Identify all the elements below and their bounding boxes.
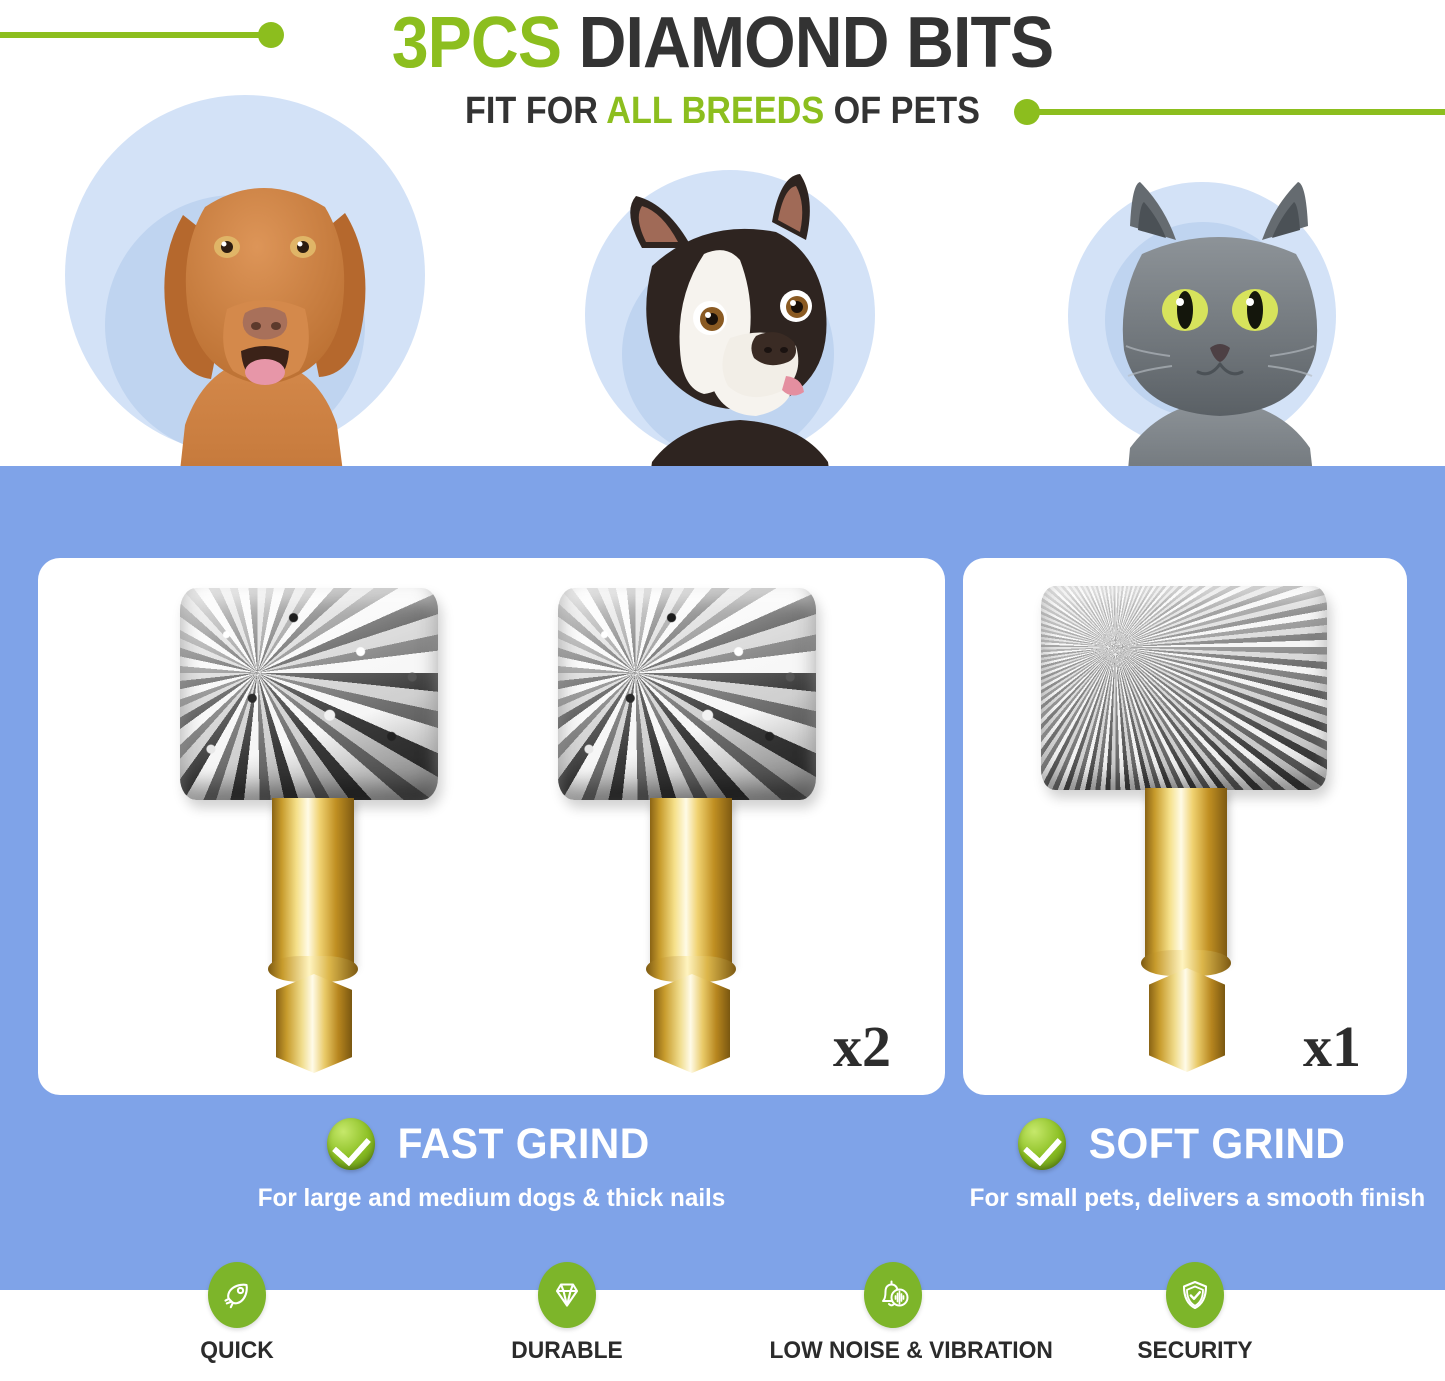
feature-heading: SOFT GRIND [963,1118,1407,1170]
diamond-icon [550,1278,584,1312]
subtitle-post: OF PETS [824,90,980,132]
header-line-right [1034,109,1445,115]
bit-hex-shank [276,974,352,1073]
feature-title: SOFT GRIND [1089,1120,1346,1169]
page-title: 3PCS DIAMOND BITS [58,2,1387,84]
benefit-icon-wrap [1166,1262,1224,1328]
benefit-label: DURABLE [444,1337,691,1365]
bell-sound-icon [875,1277,911,1313]
title-highlight: 3PCS [392,3,561,83]
benefit-security: SECURITY [1065,1262,1325,1365]
benefit-icon-wrap [864,1262,922,1328]
bit-head-fine [1041,586,1327,790]
benefit-label: SECURITY [1072,1337,1319,1365]
product-infographic: 3PCS DIAMOND BITS FIT FOR ALL BREEDS OF … [0,0,1445,1381]
rocket-icon [220,1278,254,1312]
bit-hex-shank [654,974,730,1073]
check-circle-icon [327,1118,375,1170]
check-circle-icon [1018,1118,1066,1170]
bit-head-coarse [558,588,816,800]
shield-check-icon [1178,1278,1212,1312]
benefit-icon-wrap [208,1262,266,1328]
bit-hex-shank [1149,968,1225,1072]
quantity-label-soft-grind: x1 [1303,1013,1361,1080]
feature-fast-grind: FAST GRIND For large and medium dogs & t… [38,1118,945,1213]
benefit-label: LOW NOISE & VIBRATION [770,1337,1017,1365]
diamond-bit-coarse-2 [528,588,848,1073]
benefit-icon-wrap [538,1262,596,1328]
feature-soft-grind: SOFT GRIND For small pets, delivers a sm… [963,1118,1407,1213]
feature-title: FAST GRIND [397,1120,649,1169]
bit-head-coarse [180,588,438,800]
title-rest: DIAMOND BITS [579,3,1054,83]
feature-heading: FAST GRIND [38,1118,945,1170]
benefit-quick: QUICK [107,1262,367,1365]
subtitle-pre: FIT FOR [465,90,606,132]
benefit-low-noise: LOW NOISE & VIBRATION [763,1262,1023,1365]
bit-shank [650,798,732,966]
diamond-bit-fine-1 [1023,586,1343,1074]
feature-subtitle: For large and medium dogs & thick nails [52,1184,932,1213]
bit-shank [1145,788,1227,960]
quantity-label-fast-grind: x2 [833,1013,891,1080]
benefit-durable: DURABLE [437,1262,697,1365]
product-card-soft-grind: x1 [963,558,1407,1095]
feature-subtitle: For small pets, delivers a smooth finish [970,1184,1401,1213]
product-card-fast-grind: x2 [38,558,945,1095]
benefit-label: QUICK [114,1337,361,1365]
subtitle-highlight: ALL BREEDS [606,90,824,132]
bit-shank [272,798,354,966]
diamond-bit-coarse-1 [150,588,470,1073]
